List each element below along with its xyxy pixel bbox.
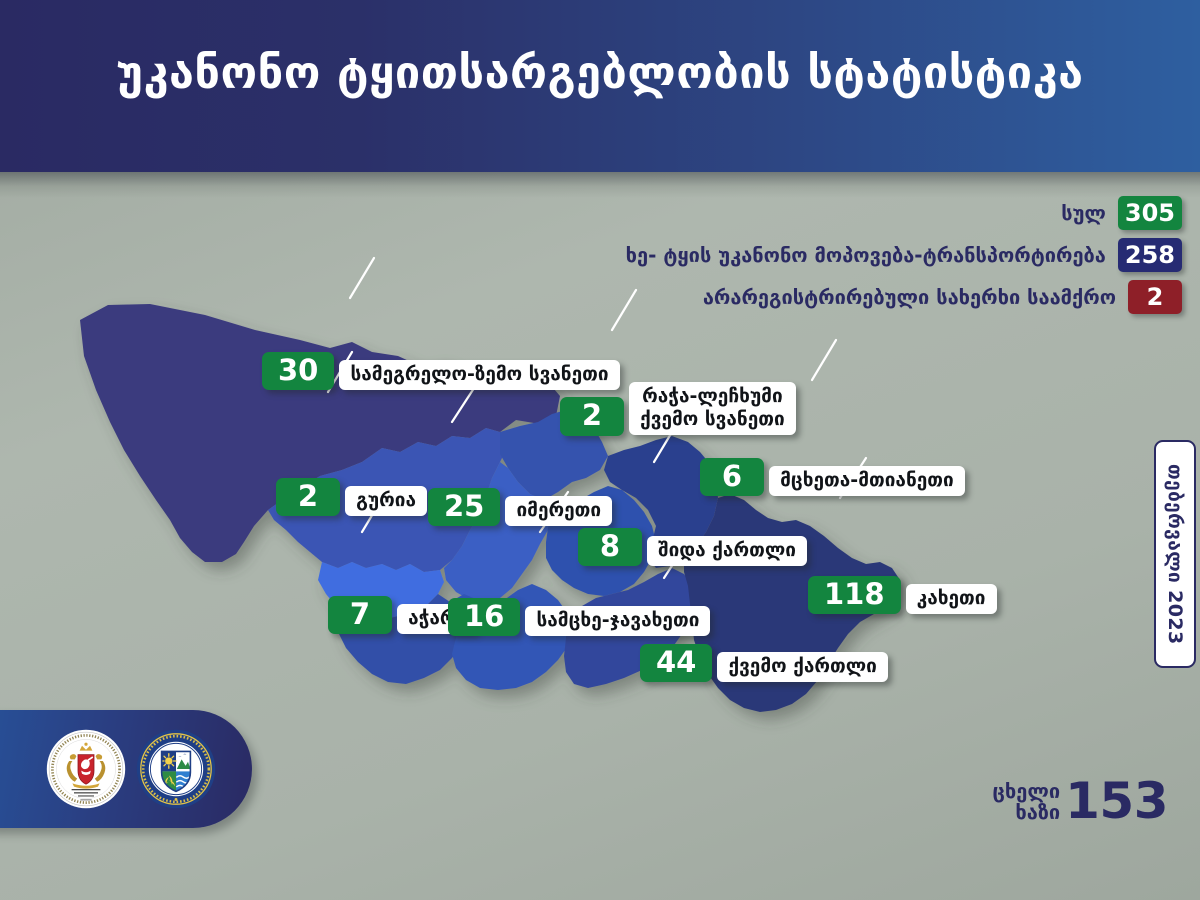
callout-shida-kartli: 8 შიდა ქართლი <box>578 528 807 566</box>
callout-label-kakheti: კახეთი <box>906 584 997 614</box>
callout-label-kvemo-kartli: ქვემო ქართლი <box>717 652 887 682</box>
callout-kvemo-kartli: 44 ქვემო ქართლი <box>640 644 888 682</box>
callout-value-shida-kartli: 8 <box>578 528 642 566</box>
callout-guria: 2 გურია <box>276 478 427 516</box>
hotline-number: 153 <box>1065 778 1168 825</box>
date-tab: თებერვალი 2023 <box>1154 440 1196 668</box>
callout-label-samtskhe: სამცხე-ჯავახეთი <box>525 606 710 636</box>
infographic-page: უკანონო ტყითსარგებლობის სტატისტიკა <box>0 0 1200 900</box>
hotline: ცხელი ხაზი 153 <box>992 778 1168 825</box>
legend-row-unregistered-sawmill: არარეგისტრირებული სახერხი საამქრო 2 <box>626 280 1182 314</box>
callout-label-guria: გურია <box>345 486 427 516</box>
page-title: უკანონო ტყითსარგებლობის სტატისტიკა <box>0 46 1200 99</box>
callout-value-samegrelo: 30 <box>262 352 334 390</box>
legend-badge-unregistered-sawmill: 2 <box>1128 280 1182 314</box>
hotline-label: ცხელი ხაზი <box>992 781 1060 822</box>
callout-label-shida-kartli: შიდა ქართლი <box>647 536 807 566</box>
callout-label-racha-line1: რაჭა-ლეჩხუმი <box>642 385 783 407</box>
callout-label-mtskheta: მცხეთა-მთიანეთი <box>769 466 965 496</box>
callout-imereti: 25 იმერეთი <box>428 488 612 526</box>
legend-row-total: სულ 305 <box>626 196 1182 230</box>
hotline-label-line1: ცხელი <box>992 781 1060 801</box>
callout-value-imereti: 25 <box>428 488 500 526</box>
callout-value-samtskhe: 16 <box>448 598 520 636</box>
header-banner: უკანონო ტყითსარგებლობის სტატისტიკა <box>0 0 1200 172</box>
callout-mtskheta: 6 მცხეთა-მთიანეთი <box>700 458 965 496</box>
callout-kakheti: 118 კახეთი <box>808 576 997 614</box>
callout-value-guria: 2 <box>276 478 340 516</box>
callout-value-mtskheta: 6 <box>700 458 764 496</box>
callout-racha: 2 რაჭა-ლეჩხუმი ქვემო სვანეთი <box>560 382 796 436</box>
callout-label-imereti: იმერეთი <box>505 496 612 526</box>
ministry-seal-icon <box>46 729 126 809</box>
legend-badge-illegal-logging: 258 <box>1118 238 1182 272</box>
hotline-label-line2: ხაზი <box>992 802 1060 822</box>
callout-samtskhe: 16 სამცხე-ჯავახეთი <box>448 598 710 636</box>
callout-value-kvemo-kartli: 44 <box>640 644 712 682</box>
legend-row-illegal-logging: ხე- ტყის უკანონო მოპოვება-ტრანსპორტირება… <box>626 238 1182 272</box>
legend-label-illegal-logging: ხე- ტყის უკანონო მოპოვება-ტრანსპორტირება <box>626 243 1106 267</box>
logo-plate <box>0 710 252 828</box>
callout-label-racha-line2: ქვემო სვანეთი <box>640 408 785 430</box>
legend: სულ 305 ხე- ტყის უკანონო მოპოვება-ტრანსპ… <box>626 196 1182 322</box>
callout-value-adjara: 7 <box>328 596 392 634</box>
callout-value-kakheti: 118 <box>808 576 901 614</box>
legend-label-total: სულ <box>1061 201 1106 225</box>
date-tab-label: თებერვალი 2023 <box>1164 464 1186 645</box>
legend-label-unregistered-sawmill: არარეგისტრირებული სახერხი საამქრო <box>703 285 1116 309</box>
department-seal-icon <box>136 729 216 809</box>
callout-value-racha: 2 <box>560 397 624 435</box>
callout-label-racha: რაჭა-ლეჩხუმი ქვემო სვანეთი <box>629 382 796 435</box>
legend-badge-total: 305 <box>1118 196 1182 230</box>
